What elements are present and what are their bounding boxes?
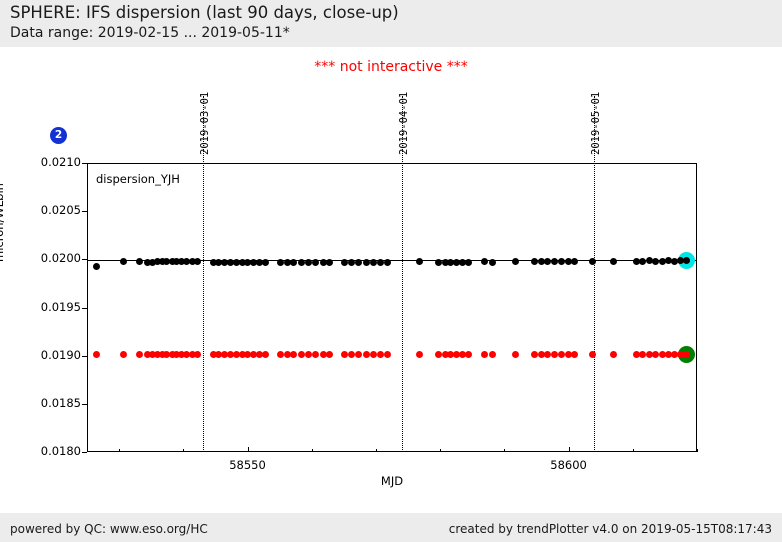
footer-created-by: created by trendPlotter v4.0 on 2019-05-… [449, 522, 772, 536]
data-point [341, 351, 348, 358]
date-marker-label: 2019-05-01 [590, 92, 602, 155]
data-point [370, 351, 377, 358]
y-tick-label: 0.0195 [1, 300, 81, 314]
data-point [363, 351, 370, 358]
data-point [489, 351, 496, 358]
data-point [465, 259, 472, 266]
data-point [312, 351, 319, 358]
data-point [341, 259, 348, 266]
y-tick-label: 0.0205 [1, 203, 81, 217]
data-point [384, 259, 391, 266]
plot-area: dispersion_YJH [87, 163, 697, 452]
data-point [262, 351, 269, 358]
y-tick-mark [82, 452, 87, 453]
y-tick-label: 0.0210 [1, 155, 81, 169]
data-point [290, 351, 297, 358]
data-point [120, 258, 127, 265]
data-point [93, 351, 100, 358]
data-range-subtitle: Data range: 2019-02-15 ... 2019-05-11* [10, 25, 290, 41]
x-axis-label: MJD [87, 474, 697, 488]
plot-inner: dispersion_YJH [88, 164, 696, 451]
x-tick-label: 58550 [203, 458, 293, 472]
data-point [377, 351, 384, 358]
data-point [683, 351, 690, 358]
x-minor-tick-mark [697, 449, 698, 452]
data-point [589, 258, 596, 265]
data-point [384, 351, 391, 358]
x-tick-label: 58600 [524, 458, 614, 472]
data-point [136, 258, 143, 265]
data-point [512, 258, 519, 265]
data-point [571, 351, 578, 358]
y-axis-label: micron/WLbin [0, 183, 6, 262]
data-point [298, 259, 305, 266]
data-point [355, 351, 362, 358]
data-point [136, 351, 143, 358]
page-number-badge: 2 [50, 127, 67, 144]
data-point [377, 259, 384, 266]
data-point [571, 258, 578, 265]
data-point [416, 351, 423, 358]
data-point [355, 259, 362, 266]
data-point [326, 351, 333, 358]
not-interactive-notice: *** not interactive *** [0, 59, 782, 75]
data-point [610, 258, 617, 265]
data-point [290, 259, 297, 266]
page-title: SPHERE: IFS dispersion (last 90 days, cl… [10, 3, 399, 22]
data-point [348, 351, 355, 358]
data-point [363, 259, 370, 266]
data-point [489, 259, 496, 266]
date-marker-label: 2019-03-01 [199, 92, 211, 155]
data-point [194, 258, 201, 265]
data-point [465, 351, 472, 358]
data-point [544, 351, 551, 358]
data-point [93, 263, 100, 270]
y-tick-label: 0.0185 [1, 396, 81, 410]
data-point [312, 259, 319, 266]
y-tick-label: 0.0200 [1, 251, 81, 265]
data-point [298, 351, 305, 358]
data-point [305, 259, 312, 266]
data-point [348, 259, 355, 266]
data-point [120, 351, 127, 358]
data-point [544, 258, 551, 265]
date-marker-label: 2019-04-01 [398, 92, 410, 155]
series-legend-label: dispersion_YJH [96, 172, 180, 186]
data-point [683, 257, 690, 264]
footer-powered-by: powered by QC: www.eso.org/HC [10, 522, 208, 536]
trend-plot-page: SPHERE: IFS dispersion (last 90 days, cl… [0, 0, 782, 542]
data-point [481, 351, 488, 358]
y-tick-label: 0.0180 [1, 444, 81, 458]
data-point [416, 258, 423, 265]
data-point [589, 351, 596, 358]
data-point [551, 258, 558, 265]
y-tick-label: 0.0190 [1, 348, 81, 362]
data-point [610, 351, 617, 358]
data-point [326, 259, 333, 266]
data-point [551, 351, 558, 358]
data-point [481, 258, 488, 265]
data-point [262, 259, 269, 266]
data-point [512, 351, 519, 358]
data-point [305, 351, 312, 358]
data-point [194, 351, 201, 358]
data-point [370, 259, 377, 266]
